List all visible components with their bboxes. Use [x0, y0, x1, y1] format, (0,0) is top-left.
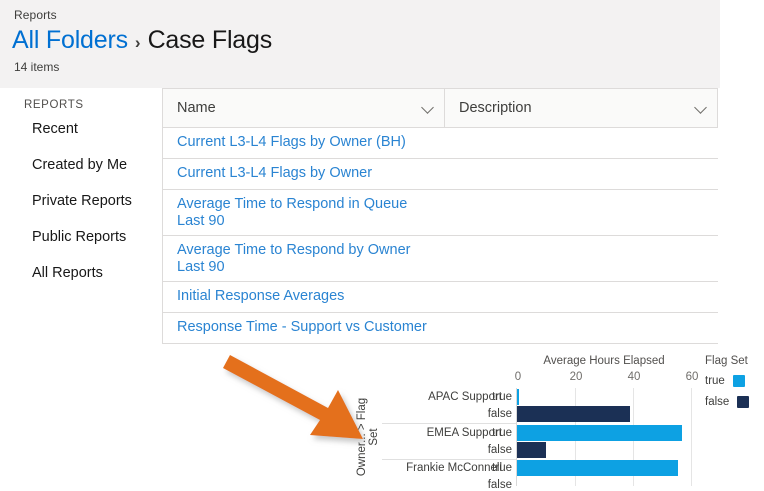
group-separator	[382, 459, 516, 460]
chart-x-axis-title: Average Hours Elapsed	[516, 355, 692, 367]
sidebar-item-private-reports[interactable]: Private Reports	[0, 183, 160, 219]
y-axis-tick-apac-true: true	[478, 391, 512, 403]
cell-name: Current L3-L4 Flags by Owner	[163, 159, 446, 189]
table-header-row: Name Description	[162, 88, 718, 128]
sidebar: REPORTS Recent Created by Me Private Rep…	[0, 90, 160, 291]
x-axis-tick-20: 20	[570, 371, 583, 383]
page-header: Reports All Folders › Case Flags 14 item…	[0, 0, 720, 88]
bar-frankie-true[interactable]	[517, 460, 678, 476]
gridline-60	[691, 388, 692, 486]
y-axis-tick-apac-false: false	[478, 408, 512, 420]
table-row: Average Time to Respond by Owner Last 90	[162, 236, 718, 282]
y-axis-tick-frankie-true: true	[478, 462, 512, 474]
report-link-line2: Last 90	[177, 259, 436, 276]
breadcrumb: All Folders › Case Flags	[12, 26, 272, 55]
table-row: Current L3-L4 Flags by Owner (BH)	[162, 128, 718, 159]
x-axis-tick-0: 0	[515, 371, 521, 383]
cell-name: Response Time - Support vs Customer	[163, 313, 446, 343]
report-link[interactable]: Average Time to Respond by Owner Last 90	[177, 242, 436, 275]
cell-description	[446, 282, 718, 312]
cell-name: Current L3-L4 Flags by Owner (BH)	[163, 128, 446, 158]
bar-emea-true[interactable]	[517, 425, 682, 441]
chart-legend-title: Flag Set	[705, 355, 748, 367]
table-row: Initial Response Averages	[162, 282, 718, 313]
table-row: Response Time - Support vs Customer	[162, 313, 718, 344]
table-row: Current L3-L4 Flags by Owner	[162, 159, 718, 190]
report-link[interactable]: Response Time - Support vs Customer	[177, 319, 436, 336]
x-axis-tick-60: 60	[686, 371, 699, 383]
column-header-description[interactable]: Description	[445, 89, 718, 127]
legend-entry-false[interactable]: false	[705, 396, 749, 408]
report-link[interactable]: Current L3-L4 Flags by Owner	[177, 165, 436, 182]
sidebar-item-created-by-me[interactable]: Created by Me	[0, 147, 160, 183]
legend-entry-true[interactable]: true	[705, 375, 745, 387]
cell-description	[446, 313, 718, 343]
cell-description	[446, 190, 718, 235]
report-link-line2: Last 90	[177, 213, 436, 230]
cell-description	[446, 159, 718, 189]
table-row: Average Time to Respond in Queue Last 90	[162, 190, 718, 236]
breadcrumb-eyebrow: Reports	[14, 8, 57, 22]
cell-name: Average Time to Respond in Queue Last 90	[163, 190, 446, 235]
report-link-line1: Average Time to Respond by Owner	[177, 242, 410, 258]
bar-emea-false[interactable]	[517, 442, 546, 458]
cell-description	[446, 236, 718, 281]
breadcrumb-separator-icon: ›	[134, 33, 142, 53]
legend-swatch-true	[733, 375, 745, 387]
y-axis-tick-emea-false: false	[478, 444, 512, 456]
report-link[interactable]: Average Time to Respond in Queue Last 90	[177, 196, 436, 229]
sidebar-item-all-reports[interactable]: All Reports	[0, 255, 160, 291]
x-axis-tick-40: 40	[628, 371, 641, 383]
legend-swatch-false	[737, 396, 749, 408]
chevron-down-icon[interactable]	[422, 102, 434, 114]
report-link[interactable]: Initial Response Averages	[177, 288, 436, 305]
breadcrumb-link-all-folders[interactable]: All Folders	[12, 26, 128, 55]
column-header-description-label: Description	[459, 100, 532, 116]
legend-entry-false-label: false	[705, 396, 729, 408]
bar-apac-false[interactable]	[517, 406, 630, 422]
cell-name: Average Time to Respond by Owner Last 90	[163, 236, 446, 281]
y-axis-tick-frankie-false: false	[478, 479, 512, 491]
column-header-name-label: Name	[177, 100, 216, 116]
legend-entry-true-label: true	[705, 375, 725, 387]
bar-apac-true[interactable]	[517, 389, 519, 405]
report-link-line1: Average Time to Respond in Queue	[177, 196, 407, 212]
cell-description	[446, 128, 718, 158]
y-axis-tick-emea-true: true	[478, 427, 512, 439]
item-count: 14 items	[14, 60, 59, 74]
report-link[interactable]: Current L3-L4 Flags by Owner (BH)	[177, 134, 436, 151]
group-separator	[382, 423, 516, 424]
sidebar-item-recent[interactable]: Recent	[0, 111, 160, 147]
sidebar-heading: REPORTS	[0, 90, 160, 111]
cell-name: Initial Response Averages	[163, 282, 446, 312]
column-header-name[interactable]: Name	[162, 89, 445, 127]
reports-table: Name Description Current L3-L4 Flags by …	[162, 88, 718, 344]
chart-y-axis-title: Owner... > Flag Set	[356, 388, 374, 486]
sidebar-item-public-reports[interactable]: Public Reports	[0, 219, 160, 255]
page-title: Case Flags	[148, 26, 272, 55]
chevron-down-icon[interactable]	[695, 102, 707, 114]
